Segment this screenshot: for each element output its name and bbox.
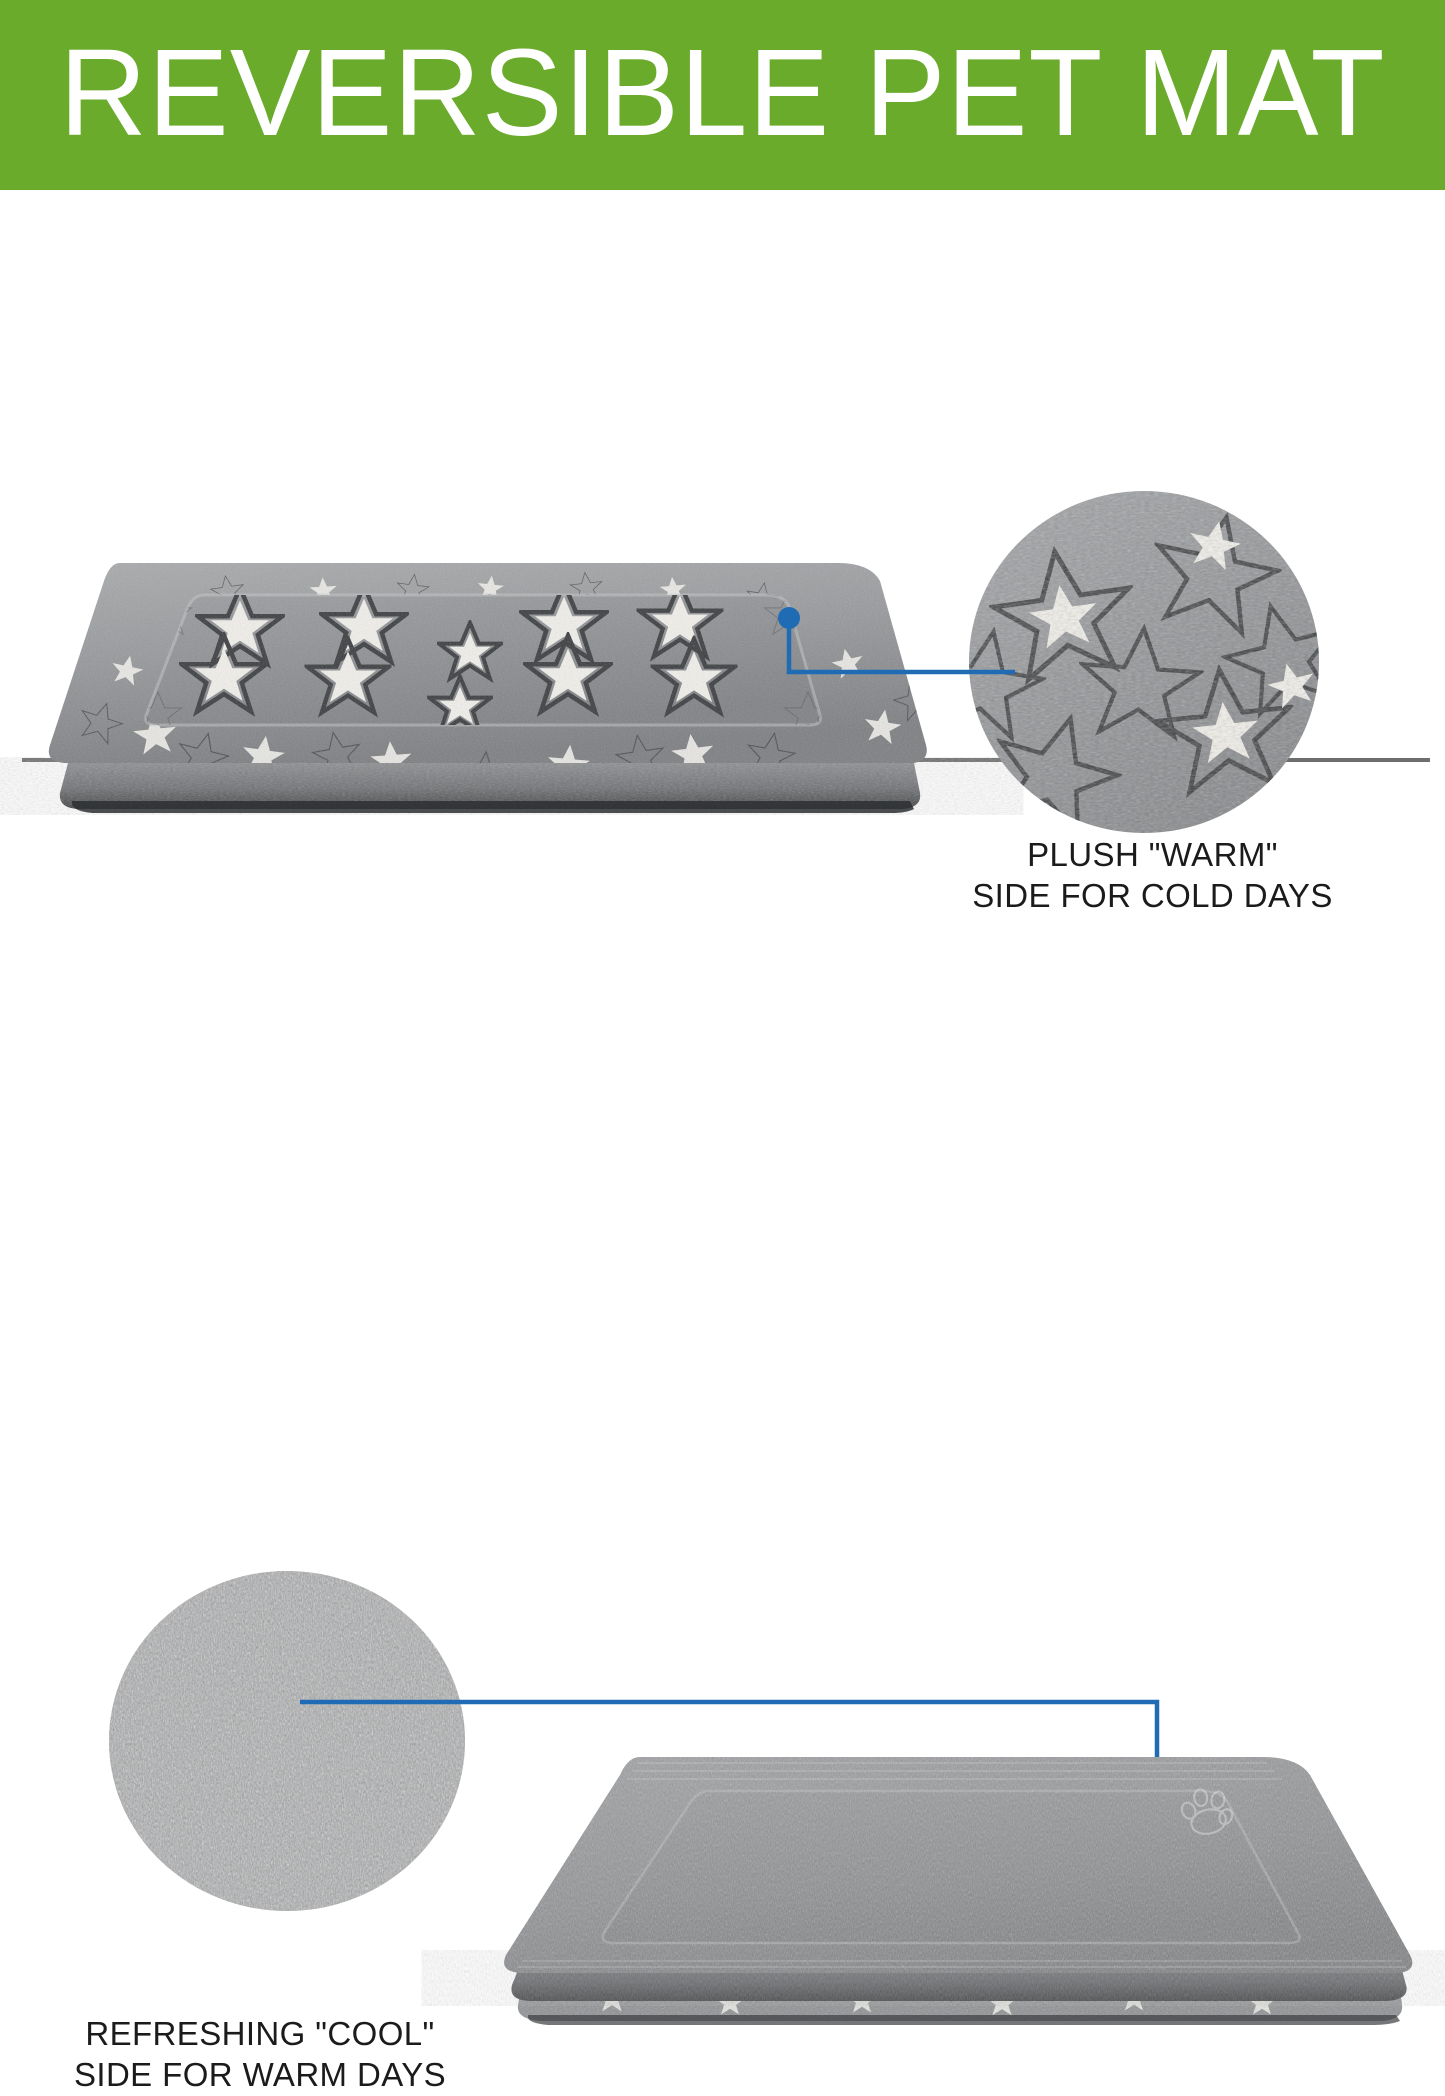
header-banner: REVERSIBLE PET MAT [0, 0, 1445, 190]
panel-warm-side: PLUSH "WARM" SIDE FOR COLD DAYS [0, 190, 1445, 760]
caption-cool-line-1: REFRESHING "COOL" [40, 2014, 480, 2055]
callout-line [789, 622, 1015, 672]
caption-cool-side: REFRESHING "COOL" SIDE FOR WARM DAYS [40, 2014, 480, 2096]
callout-dot [778, 607, 800, 629]
caption-cool-line-2: SIDE FOR WARM DAYS [40, 2055, 480, 2096]
panel-cool-side: REFRESHING "COOL" SIDE FOR WARM DAYS [0, 762, 1445, 1330]
callout-connector-warm [775, 602, 1015, 697]
product-image-cool-mat [462, 1747, 1445, 2047]
page-title: REVERSIBLE PET MAT [11, 0, 1434, 190]
